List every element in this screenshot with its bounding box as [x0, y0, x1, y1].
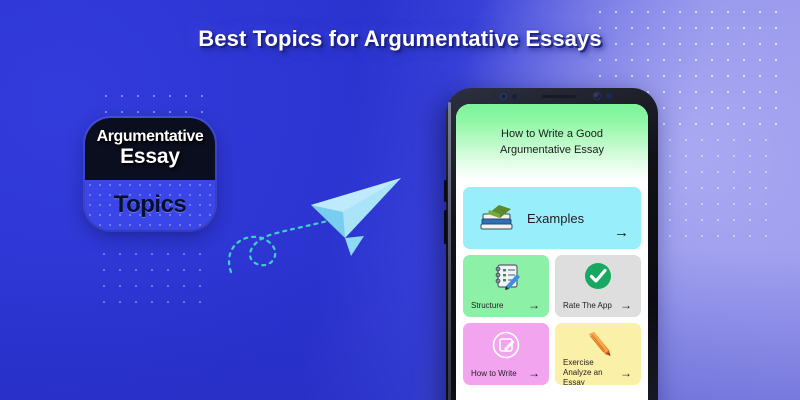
phone-bezel-highlight [448, 102, 451, 400]
card-row-1: Structure → Rate The App → [463, 255, 641, 317]
card-icon-slot [563, 262, 633, 301]
paper-plane-decoration [225, 160, 415, 280]
app-icon-line-1: Argumentative [97, 129, 204, 145]
arrow-right-icon: → [528, 299, 540, 311]
phone-mockup: How to Write a Good Argumentative Essay … [446, 88, 658, 400]
orange-pencil-icon [584, 330, 612, 358]
dot-grid-pattern [96, 246, 214, 308]
app-icon-line-2: Essay [120, 145, 180, 169]
phone-top-sensors [446, 88, 658, 104]
paper-plane-icon [311, 178, 401, 256]
edit-circle-icon [491, 330, 521, 360]
arrow-right-icon: → [528, 367, 540, 379]
app-icon-line-3: Topics [114, 191, 187, 219]
phone-power-button[interactable] [444, 210, 447, 244]
phone-volume-button[interactable] [444, 180, 447, 202]
ir-sensor-icon [522, 95, 525, 98]
books-stack-icon [477, 201, 517, 235]
card-icon-slot [471, 262, 541, 301]
arrow-right-icon: → [614, 225, 629, 240]
secondary-sensor-icon [606, 93, 612, 99]
card-exercise-analyze-an-essay[interactable]: Exercise Analyze an Essay → [555, 323, 641, 385]
card-label: Rate The App [563, 301, 619, 311]
notebook-pen-icon [491, 262, 521, 292]
card-row-2: How to Write → [463, 323, 641, 385]
app-icon[interactable]: Argumentative Essay Topics [85, 118, 215, 230]
card-icon-slot [471, 330, 541, 369]
page-title: Best Topics for Argumentative Essays [0, 26, 800, 52]
card-structure[interactable]: Structure → [463, 255, 549, 317]
card-how-to-write[interactable]: How to Write → [463, 323, 549, 385]
card-label: Examples [527, 211, 584, 226]
arrow-right-icon: → [620, 367, 632, 379]
proximity-sensor-icon [492, 95, 495, 98]
app-icon-bottom-panel: Topics [85, 180, 215, 230]
app-screen-title: How to Write a Good Argumentative Essay [468, 127, 636, 159]
card-label: How to Write [471, 369, 527, 379]
phone-screen: How to Write a Good Argumentative Essay … [456, 104, 648, 400]
card-label: Structure [471, 301, 527, 311]
green-check-circle-icon [584, 262, 612, 290]
iris-scanner-icon [593, 92, 601, 100]
card-icon-slot [563, 330, 633, 358]
app-icon-top-panel: Argumentative Essay [85, 118, 215, 180]
card-rate-the-app[interactable]: Rate The App → [555, 255, 641, 317]
card-examples[interactable]: Examples → [463, 187, 641, 249]
app-screen-header: How to Write a Good Argumentative Essay [456, 104, 648, 182]
arrow-right-icon: → [620, 299, 632, 311]
light-sensor-icon [512, 94, 517, 99]
card-label: Exercise Analyze an Essay [563, 358, 619, 385]
earpiece-speaker-icon [542, 95, 576, 98]
front-camera-icon [500, 93, 507, 100]
app-card-list: Examples → [456, 182, 648, 400]
